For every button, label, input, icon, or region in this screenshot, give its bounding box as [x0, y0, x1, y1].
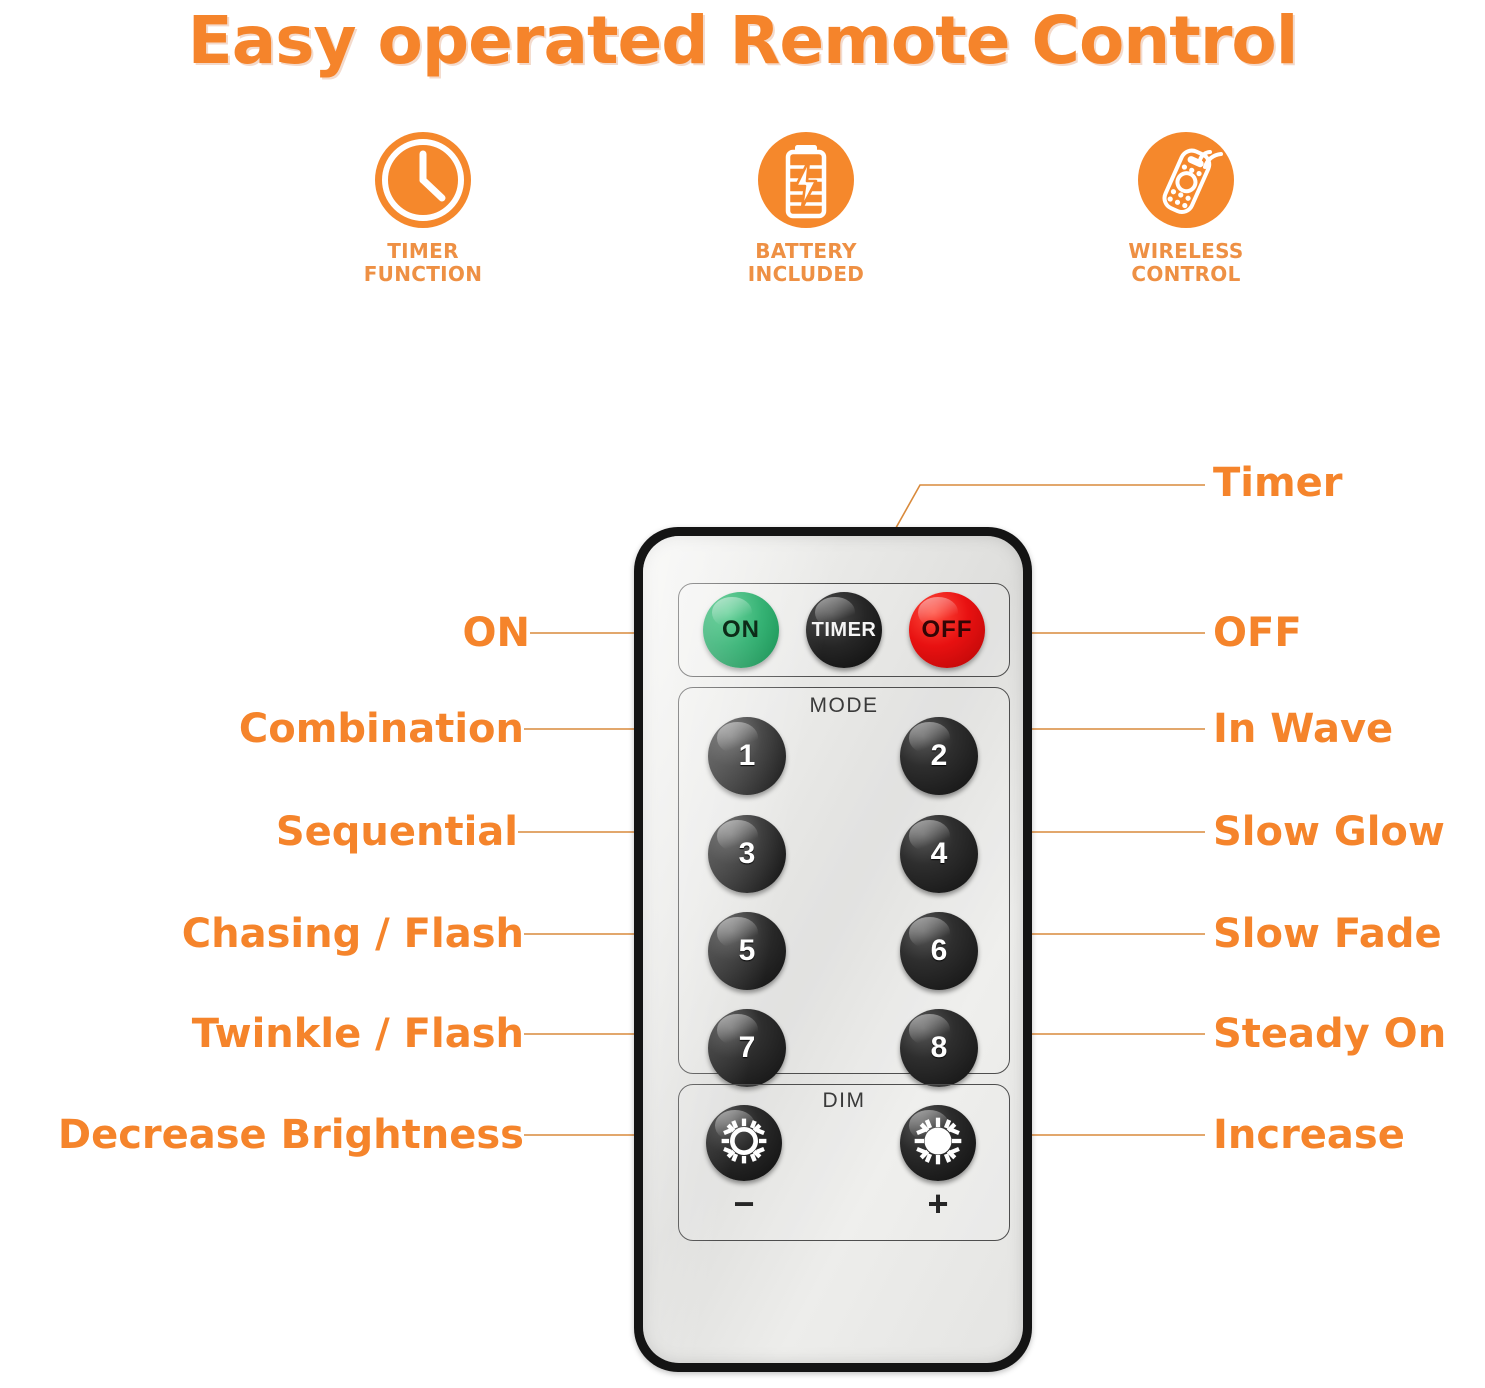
mode-button-5-label: 5 — [739, 934, 756, 968]
infographic-canvas: Easy operated Remote Control TIMER FUNCT… — [0, 0, 1485, 1388]
callout-off: OFF — [1213, 610, 1302, 656]
mode-button-5[interactable]: 5 — [708, 912, 786, 990]
callout-slow-glow: Slow Glow — [1213, 809, 1445, 855]
feature-timer-caption: TIMER FUNCTION — [293, 240, 553, 286]
callout-increase: Increase — [1213, 1112, 1405, 1158]
mode-button-2-label: 2 — [931, 739, 948, 773]
dim-plus-sign: + — [900, 1189, 976, 1219]
power-panel: ON TIMER OFF — [678, 583, 1010, 677]
on-button-label: ON — [722, 616, 760, 644]
feature-timer-line2: FUNCTION — [293, 263, 553, 286]
mode-button-4-label: 4 — [931, 837, 948, 871]
mode-button-3-label: 3 — [739, 837, 756, 871]
feature-badges: TIMER FUNCTION BATTERY INCLUDED — [0, 132, 1485, 332]
feature-timer: TIMER FUNCTION — [293, 132, 553, 286]
on-button[interactable]: ON — [703, 592, 779, 668]
feature-battery-line2: INCLUDED — [676, 263, 936, 286]
callout-slow-fade: Slow Fade — [1213, 911, 1442, 957]
timer-button-label: TIMER — [812, 619, 877, 642]
feature-timer-line1: TIMER — [293, 240, 553, 263]
feature-battery-caption: BATTERY INCLUDED — [676, 240, 936, 286]
feature-wireless-line2: CONTROL — [1056, 263, 1316, 286]
mode-button-6-label: 6 — [931, 934, 948, 968]
callout-decrease-brightness: Decrease Brightness — [10, 1112, 524, 1158]
feature-battery-line1: BATTERY — [676, 240, 936, 263]
mode-button-7[interactable]: 7 — [708, 1009, 786, 1087]
mode-button-1[interactable]: 1 — [708, 717, 786, 795]
brightness-low-icon — [716, 1113, 772, 1174]
callout-twinkle-flash: Twinkle / Flash — [60, 1011, 524, 1057]
mode-button-3[interactable]: 3 — [708, 815, 786, 893]
clock-icon — [375, 132, 471, 228]
feature-wireless: WIRELESS CONTROL — [1056, 132, 1316, 286]
mode-button-2[interactable]: 2 — [900, 717, 978, 795]
callout-sequential: Sequential — [60, 809, 518, 855]
brightness-decrease-button[interactable] — [706, 1105, 782, 1181]
battery-icon — [758, 132, 854, 228]
callout-chasing-flash: Chasing / Flash — [60, 911, 524, 957]
mode-panel: MODE 1 2 3 4 5 6 7 8 — [678, 687, 1010, 1074]
brightness-increase-button[interactable] — [900, 1105, 976, 1181]
dim-minus-sign: − — [706, 1189, 782, 1219]
callout-combination: Combination — [60, 706, 524, 752]
mode-button-6[interactable]: 6 — [900, 912, 978, 990]
timer-button[interactable]: TIMER — [806, 592, 882, 668]
mode-panel-label: MODE — [679, 694, 1009, 718]
callout-on: ON — [60, 610, 530, 656]
remote-signal-icon — [1138, 132, 1234, 228]
feature-wireless-line1: WIRELESS — [1056, 240, 1316, 263]
mode-button-7-label: 7 — [739, 1031, 756, 1065]
dim-panel: DIM — [678, 1084, 1010, 1241]
remote-control: ON TIMER OFF MODE 1 2 3 4 — [634, 527, 1032, 1372]
remote-face: ON TIMER OFF MODE 1 2 3 4 — [643, 536, 1023, 1363]
mode-button-1-label: 1 — [739, 739, 756, 773]
brightness-high-icon — [910, 1113, 966, 1174]
callout-timer: Timer — [1213, 460, 1343, 506]
off-button[interactable]: OFF — [909, 592, 985, 668]
page-title: Easy operated Remote Control — [0, 2, 1485, 79]
mode-button-4[interactable]: 4 — [900, 815, 978, 893]
mode-button-8-label: 8 — [931, 1031, 948, 1065]
off-button-label: OFF — [922, 616, 973, 644]
mode-button-8[interactable]: 8 — [900, 1009, 978, 1087]
feature-battery: BATTERY INCLUDED — [676, 132, 936, 286]
callout-in-wave: In Wave — [1213, 706, 1393, 752]
feature-wireless-caption: WIRELESS CONTROL — [1056, 240, 1316, 286]
callout-steady-on: Steady On — [1213, 1011, 1446, 1057]
